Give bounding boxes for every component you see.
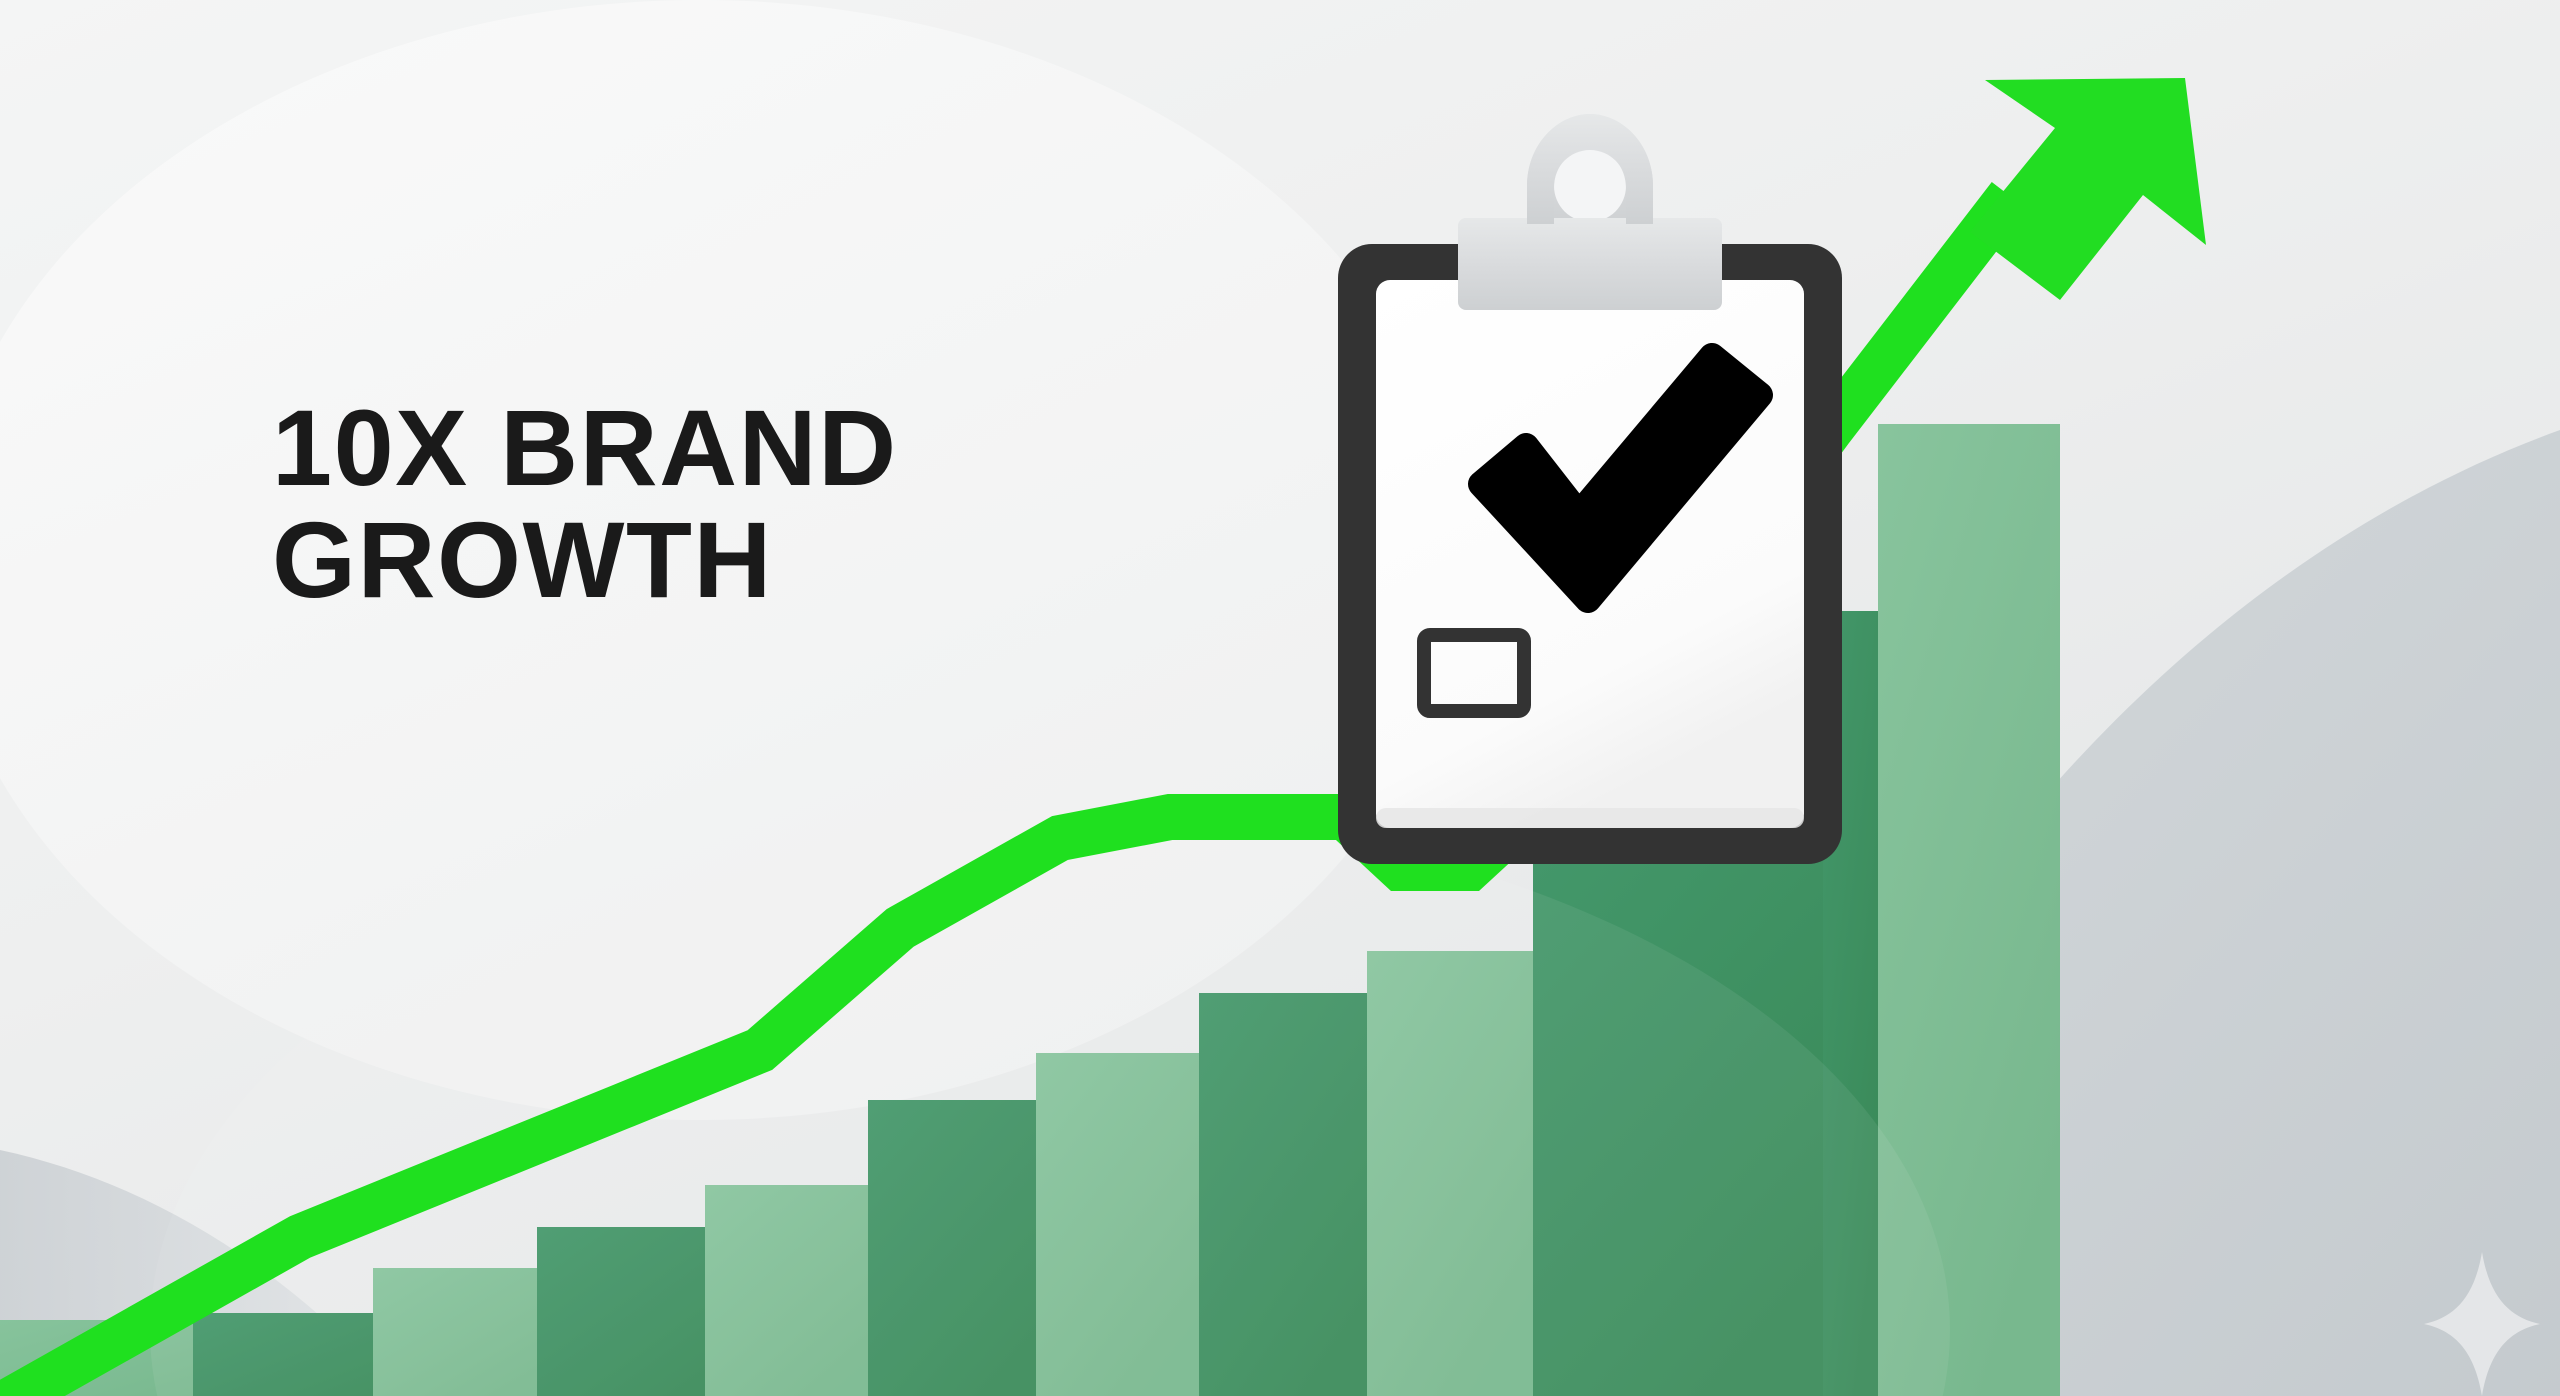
sparkle-icon	[2424, 1252, 2540, 1396]
clipboard-icon	[1330, 108, 1850, 908]
poster-canvas: 10X BRAND GROWTH	[0, 0, 2560, 1396]
decoration-layer	[0, 0, 2560, 1396]
clipboard-paper-edge	[1376, 808, 1804, 828]
clipboard-graphic	[1330, 108, 1850, 908]
clip-hole-icon	[1554, 150, 1626, 222]
clip-bar-front	[1458, 218, 1722, 310]
